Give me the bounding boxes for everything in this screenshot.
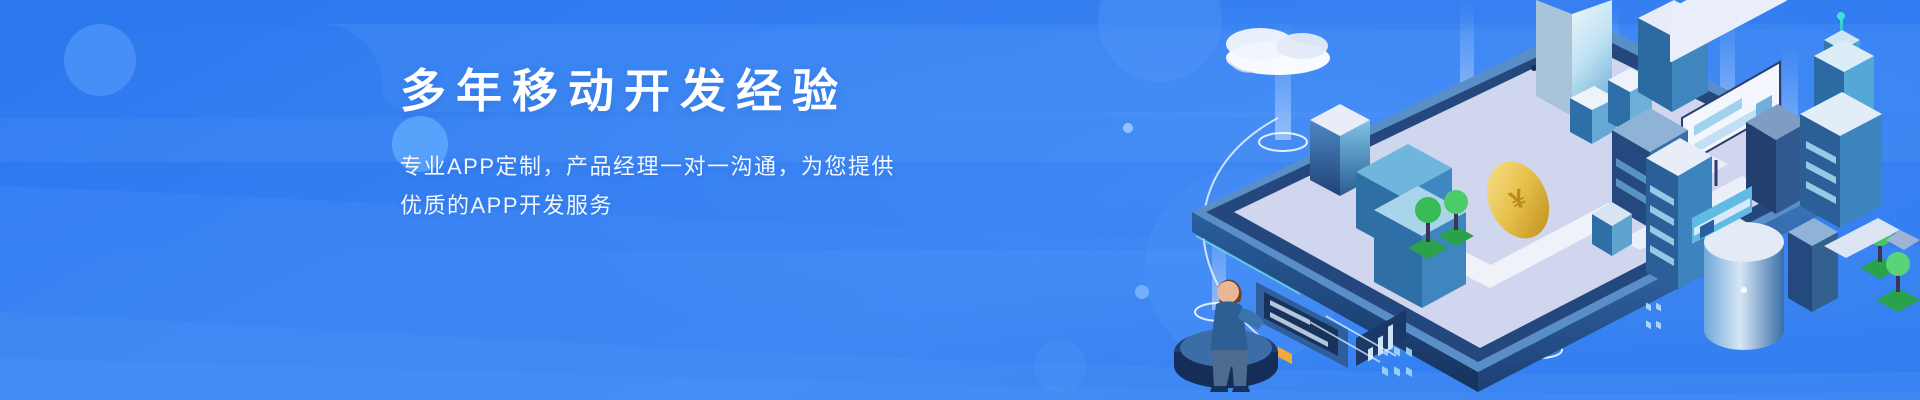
illustration-smart-city: ¥ xyxy=(1160,0,1920,400)
cloud-left xyxy=(1226,28,1330,75)
decor-circle-topleft xyxy=(64,24,136,96)
hero-banner: 多年移动开发经验 专业APP定制，产品经理一对一沟通，为您提供 优质的APP开发… xyxy=(0,0,1920,400)
building-dark-right xyxy=(1746,104,1808,214)
building-dark-block-right xyxy=(1788,218,1838,312)
building-cylinder xyxy=(1704,222,1784,350)
banner-copy: 多年移动开发经验 专业APP定制，产品经理一对一沟通，为您提供 优质的APP开发… xyxy=(400,64,1020,225)
person-head xyxy=(1217,281,1239,303)
banner-subtitle-line-2: 优质的APP开发服务 xyxy=(400,193,613,218)
decor-dot-1 xyxy=(1135,285,1149,299)
banner-subtitle: 专业APP定制，产品经理一对一沟通，为您提供 优质的APP开发服务 xyxy=(400,148,975,225)
banner-subtitle-line-1: 专业APP定制，产品经理一对一沟通，为您提供 xyxy=(400,154,895,179)
decor-dot-2 xyxy=(1123,123,1133,133)
banner-headline: 多年移动开发经验 xyxy=(400,64,1020,118)
decor-circle-bottom xyxy=(1034,340,1086,392)
